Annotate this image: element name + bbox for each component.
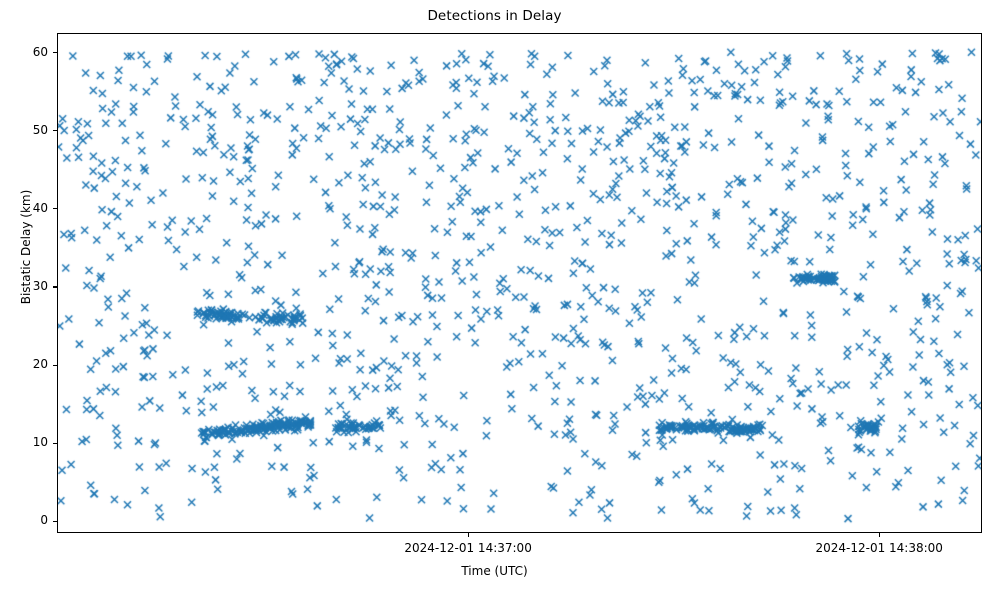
page-title: Detections in Delay [0, 8, 989, 24]
y-tick-label: 10 [0, 436, 48, 448]
x-tick-mark [468, 533, 469, 537]
figure-canvas: Detections in Delay Bistatic Delay (km) … [0, 0, 989, 590]
y-tick-label: 0 [0, 514, 48, 526]
y-tick-label: 60 [0, 46, 48, 58]
y-tick-label: 20 [0, 358, 48, 370]
scatter-series [58, 34, 982, 533]
x-tick-label: 2024-12-01 14:38:00 [789, 541, 969, 555]
x-tick-label: 2024-12-01 14:37:00 [378, 541, 558, 555]
x-axis-label: Time (UTC) [0, 564, 989, 578]
x-tick-mark [879, 533, 880, 537]
y-tick-label: 40 [0, 202, 48, 214]
y-tick-label: 50 [0, 124, 48, 136]
y-tick-label: 30 [0, 280, 48, 292]
plot-area [57, 33, 982, 533]
y-axis-label: Bistatic Delay (km) [19, 147, 33, 347]
